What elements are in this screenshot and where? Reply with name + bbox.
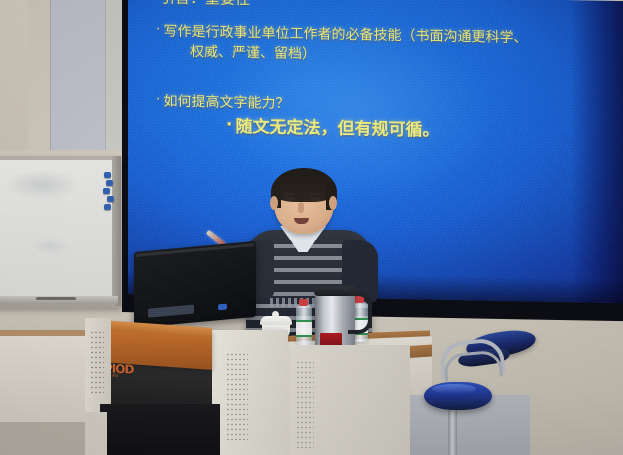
whiteboard-smudge bbox=[4, 170, 80, 200]
bottle-cap-left bbox=[299, 299, 308, 306]
wall-seam bbox=[50, 0, 51, 160]
lectern-base bbox=[100, 404, 220, 455]
lectern-grille-right bbox=[226, 352, 248, 442]
magnet-icon-4 bbox=[107, 196, 114, 202]
lecture-room-photo: 引言：重要性 ·写作是行政事业单位工作者的必备技能（书面沟通更科学、 权威、严谨… bbox=[0, 0, 623, 455]
presenter-ear-right bbox=[329, 196, 337, 210]
wall-panel-left bbox=[0, 0, 28, 160]
laptop-led-icon bbox=[218, 304, 227, 311]
stool-seat-highlight bbox=[432, 384, 476, 394]
floor bbox=[0, 420, 90, 455]
whiteboard-marker bbox=[36, 297, 76, 300]
laptop bbox=[134, 241, 256, 328]
magnet-icon-2 bbox=[106, 180, 113, 186]
lectern-brand-sub: AV bbox=[112, 373, 119, 379]
lectern-base-side bbox=[85, 412, 107, 455]
stool-post bbox=[448, 406, 457, 455]
presenter-eyebrow-right bbox=[309, 193, 320, 195]
presenter-nose bbox=[298, 202, 304, 213]
whiteboard-smudge-2 bbox=[30, 238, 70, 254]
magnet-icon-5 bbox=[104, 204, 111, 210]
lectern-grille-far-right bbox=[296, 360, 314, 448]
presenter-eye-right bbox=[310, 198, 319, 201]
lectern-grille-left bbox=[90, 330, 104, 394]
presenter-eyebrow-left bbox=[284, 193, 295, 195]
whiteboard-side-edge bbox=[112, 156, 121, 306]
presenter-ear-left bbox=[270, 196, 278, 210]
bottle-label-left bbox=[296, 320, 312, 337]
side-desk-edge bbox=[0, 330, 90, 336]
wall-seam-2 bbox=[105, 0, 106, 160]
magnet-icon bbox=[104, 172, 111, 178]
lectern-panel-right bbox=[212, 330, 288, 455]
side-desk bbox=[0, 330, 90, 422]
magnet-icon-3 bbox=[103, 188, 110, 194]
tea-cup-knob bbox=[272, 311, 279, 318]
laptop-badge bbox=[148, 305, 194, 318]
thermos-handle bbox=[348, 292, 372, 334]
presenter-eye-left bbox=[285, 198, 294, 201]
wall-panel-left-2 bbox=[28, 0, 50, 160]
wall-panel-center bbox=[50, 0, 105, 160]
